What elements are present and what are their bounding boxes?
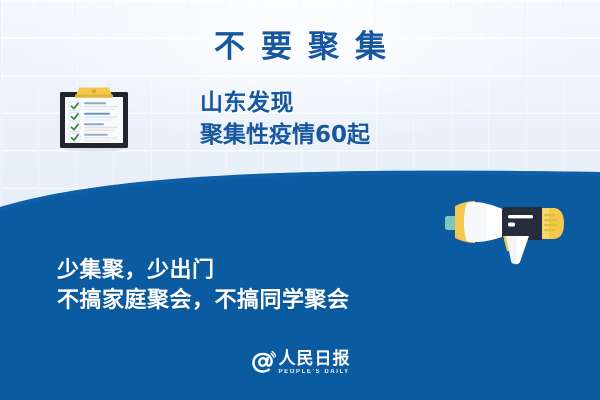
slogan-block: 少集聚，少出门 不搞家庭聚会，不搞同学聚会 [57,256,350,316]
page-title: 不要聚集 [0,32,600,63]
peoples-daily-logo: 人民日报 PEOPLE'S DAILY [0,351,600,375]
logo-chinese-name: 人民日报 [279,351,351,368]
logo-english-name: PEOPLE'S DAILY [279,369,350,375]
subtitle-line-1: 山东发现 [200,88,370,120]
slogan-line-1: 少集聚，少出门 [57,256,350,286]
subtitle-block: 山东发现 聚集性疫情60起 [200,88,370,151]
subtitle-line-2: 聚集性疫情60起 [200,120,370,152]
slogan-line-2: 不搞家庭聚会，不搞同学聚会 [57,286,350,316]
at-symbol-icon [250,351,276,375]
public-health-poster: 不要聚集 [0,0,600,400]
megaphone-icon [443,188,565,266]
clipboard-checklist-icon [56,86,132,152]
